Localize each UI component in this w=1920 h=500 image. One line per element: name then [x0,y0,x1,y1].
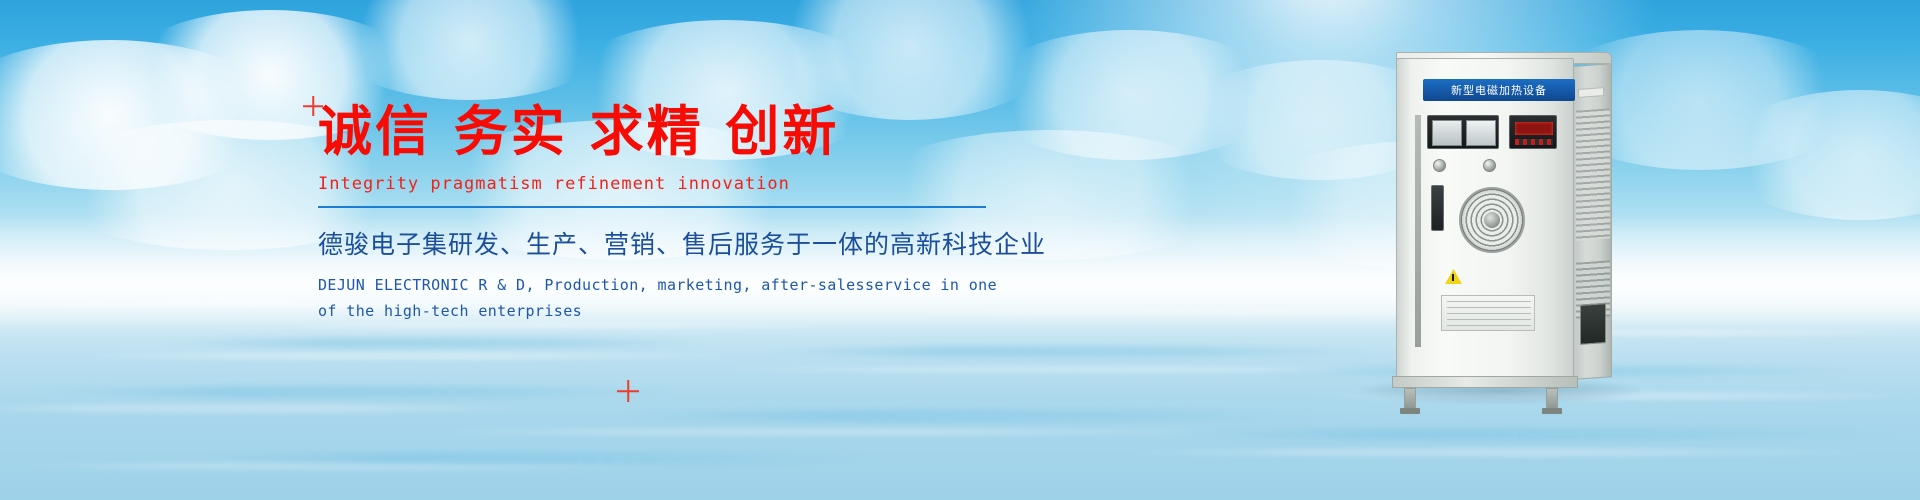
machine-analog-meter-1 [1432,120,1462,146]
headline-english: Integrity pragmatism refinement innovati… [318,174,1038,194]
plus-mark-icon [303,96,323,116]
machine-spec-plate [1441,295,1535,331]
water-streak [60,352,760,360]
machine-brand-label: 新型电磁加热设备 [1423,79,1575,101]
machine-knob-right [1483,159,1496,172]
machine-indicator-lights [1515,139,1553,145]
subtitle-english-line-1: DEJUN ELECTRONIC R & D, Production, mark… [318,272,1038,298]
wave-shadow [760,346,1380,357]
machine-meter-panel [1427,115,1499,149]
wave-shadow [160,338,720,348]
machine-digital-display [1515,122,1553,135]
machine-fan-grille [1459,187,1525,253]
machine-side-vent-block [1580,303,1606,345]
subtitle-english-line-2: of the high-tech enterprises [318,298,1038,324]
machine-analog-meter-2 [1466,120,1496,146]
machine-vertical-slot [1431,185,1444,231]
machine-leg-right [1546,388,1558,410]
machine-base [1392,376,1578,388]
water-streak [700,366,1480,373]
machine-label-text: 新型电磁加热设备 [1451,82,1547,98]
wave-shadow [40,386,680,398]
water-streak [1120,448,1880,457]
machine-foot-left [1400,408,1420,414]
cloud-decor [330,0,610,100]
hero-banner: 诚信 务实 求精 创新 Integrity pragmatism refinem… [0,0,1920,500]
cloud-decor [0,40,280,190]
divider-line [318,206,986,208]
machine-side-vents-upper [1576,108,1610,240]
machine-spec-plate-text [1447,301,1531,327]
machine-knob-left [1433,159,1446,172]
subtitle-english: DEJUN ELECTRONIC R & D, Production, mark… [318,272,1038,325]
wave-shadow [200,452,880,465]
water-streak [0,404,560,413]
water-streak [0,462,700,470]
machine-fan-hub [1484,212,1500,228]
product-image-induction-heater: 新型电磁加热设备 [1382,58,1612,408]
cloud-decor [1720,90,1920,220]
machine-warning-mark [1452,274,1454,281]
machine-corner-tag [1578,87,1604,98]
wave-shadow [1180,428,1900,440]
machine-left-trim [1415,115,1421,347]
plus-mark-icon [617,380,639,402]
banner-text-block: 诚信 务实 求精 创新 Integrity pragmatism refinem… [318,100,1038,324]
machine-leg-left [1404,388,1416,410]
machine-foot-right [1542,408,1562,414]
water-streak [420,428,1240,436]
subtitle-chinese: 德骏电子集研发、生产、营销、售后服务于一体的高新科技企业 [318,225,1038,261]
machine-front-body: 新型电磁加热设备 [1396,58,1574,380]
headline-chinese: 诚信 务实 求精 创新 [318,100,1038,164]
wave-shadow [620,410,1320,422]
machine-digital-panel [1509,115,1557,149]
